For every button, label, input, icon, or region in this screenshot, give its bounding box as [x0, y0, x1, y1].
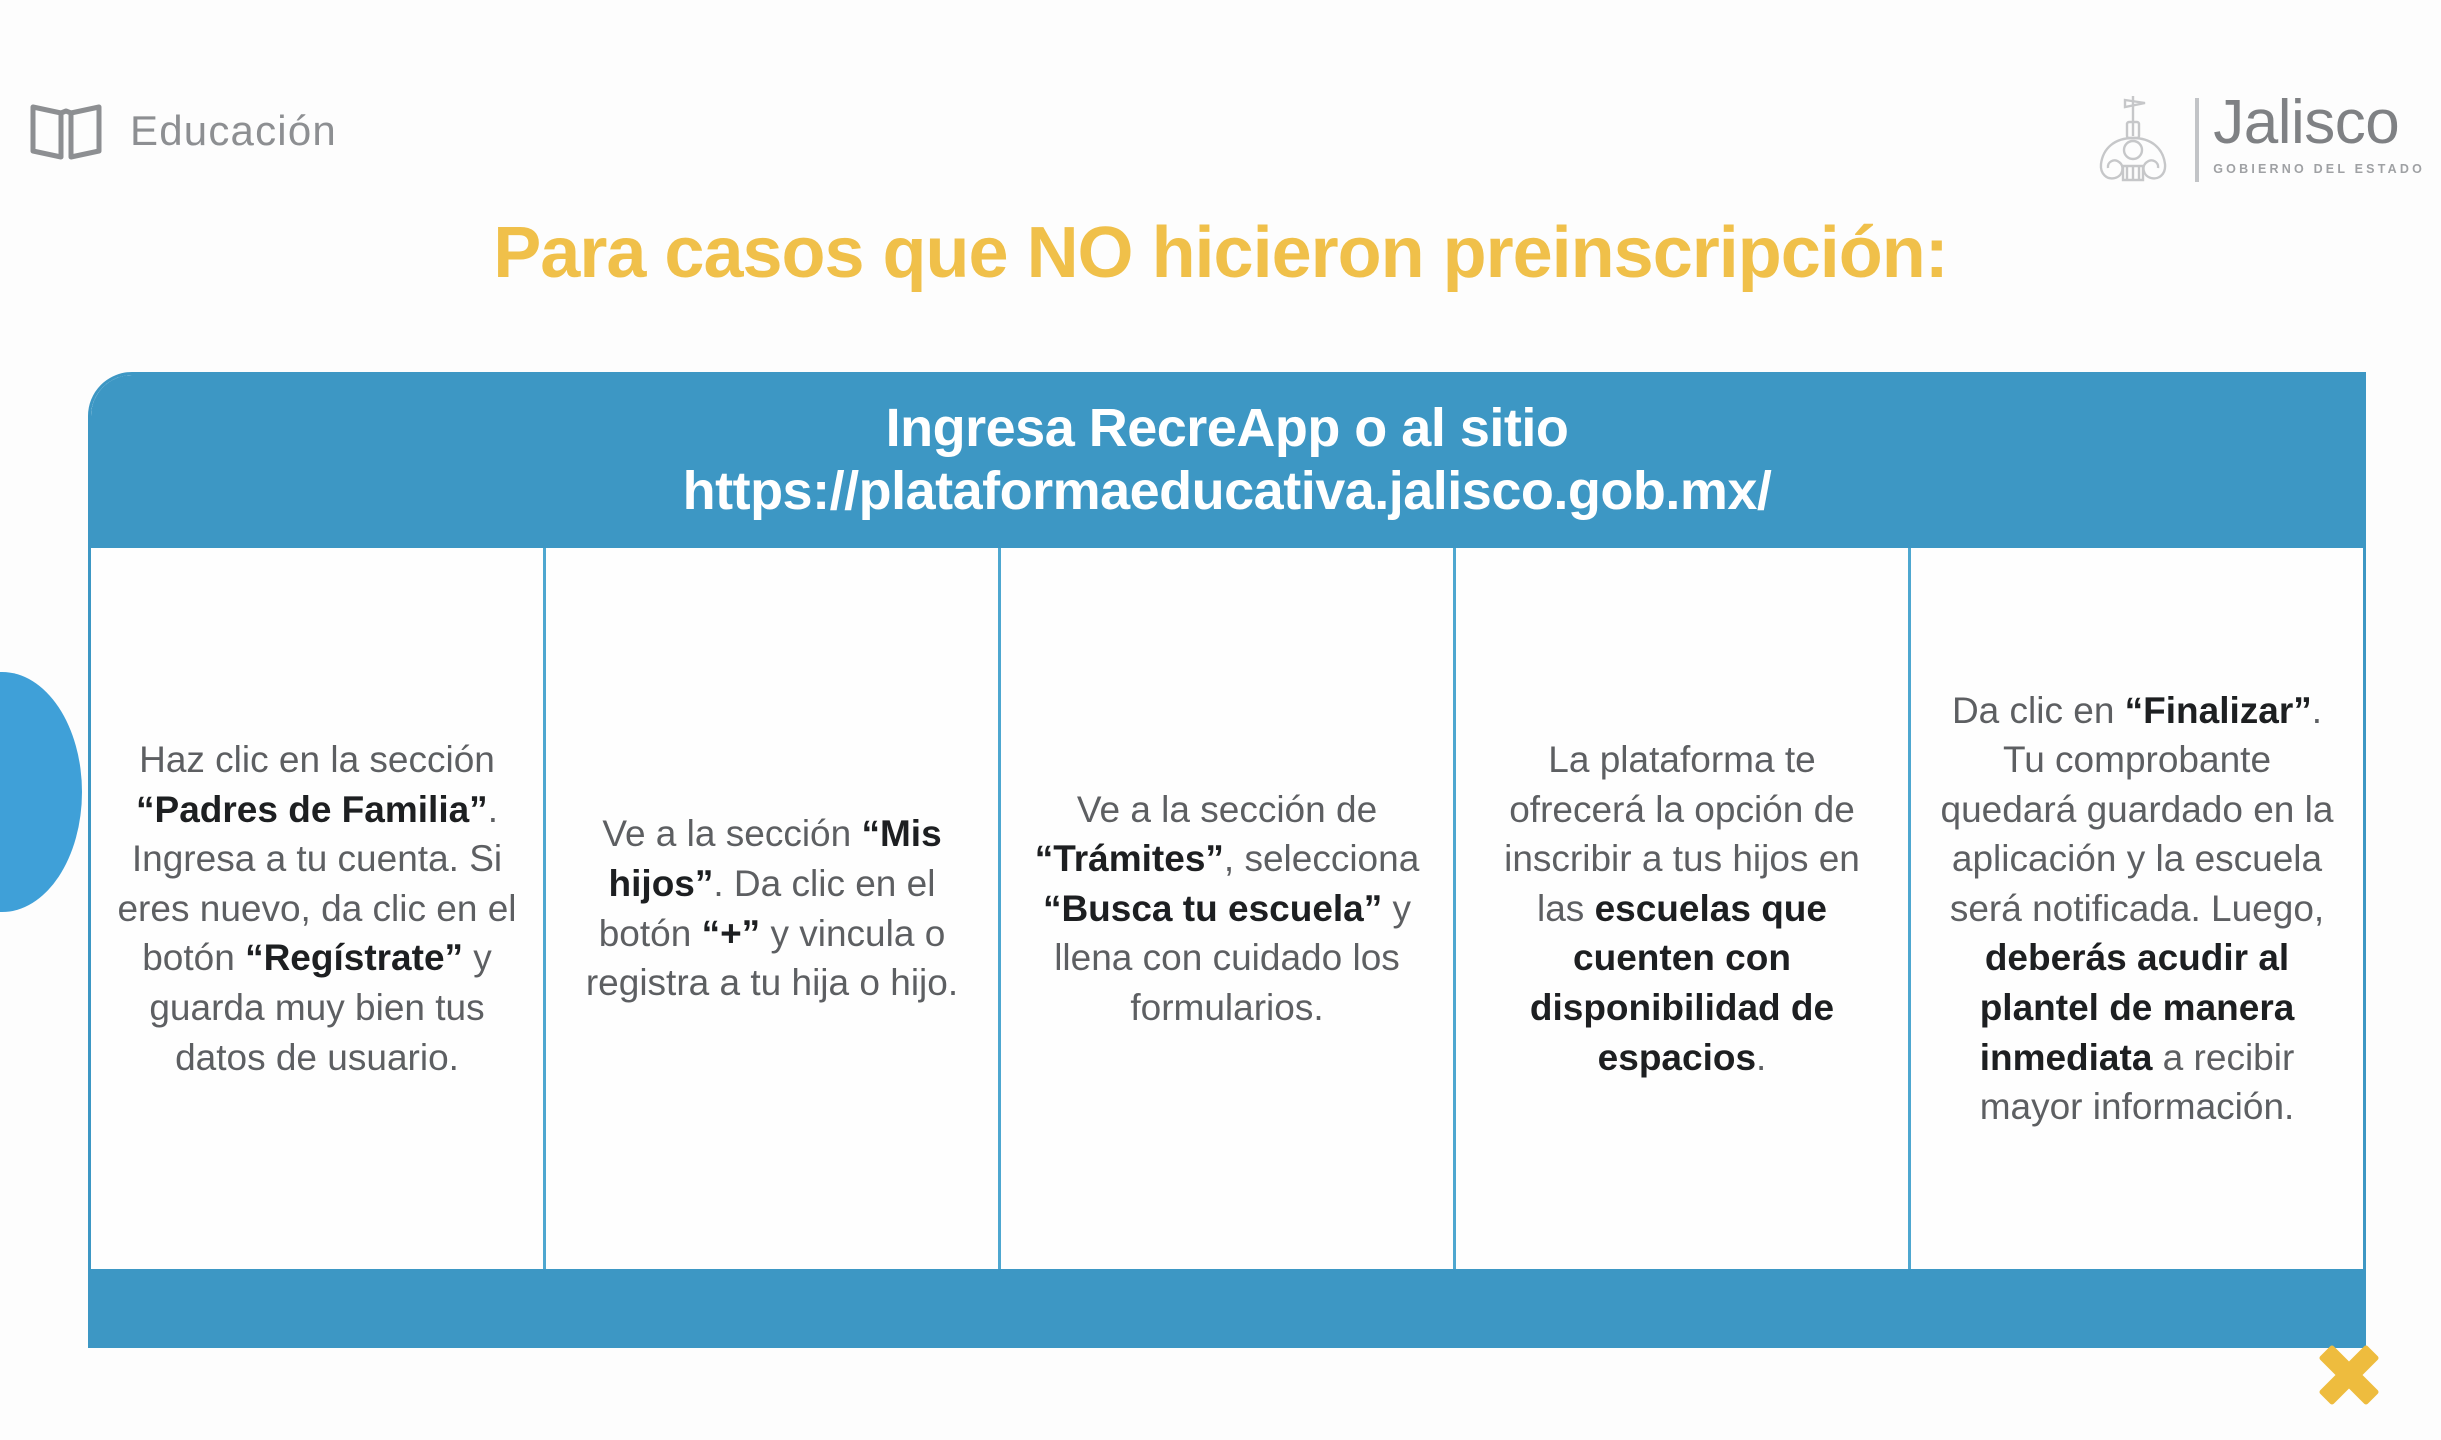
brand-divider	[2195, 98, 2199, 182]
steps-card: Ingresa RecreApp o al sitio https://plat…	[88, 372, 2366, 1348]
open-book-icon	[28, 100, 104, 162]
card-header: Ingresa RecreApp o al sitio https://plat…	[91, 375, 2363, 548]
step-column-2: Ve a la sección “Mis hijos”. Da clic en …	[546, 548, 1001, 1269]
steps-columns: Haz clic en la sección “Padres de Famili…	[91, 548, 2363, 1269]
education-brand-label: Educación	[130, 107, 337, 155]
step-text-3: Ve a la sección de “Trámites”, seleccion…	[1023, 785, 1431, 1033]
step-column-1: Haz clic en la sección “Padres de Famili…	[91, 548, 546, 1269]
jalisco-wordmark: Jalisco	[2213, 92, 2399, 154]
page-title: Para casos que NO hicieron preinscripció…	[0, 212, 2441, 294]
step-text-2: Ve a la sección “Mis hijos”. Da clic en …	[568, 809, 976, 1007]
card-header-line-1: Ingresa RecreApp o al sitio	[131, 397, 2323, 460]
step-text-4: La plataforma te ofrecerá la opción de i…	[1478, 735, 1886, 1082]
step-column-4: La plataforma te ofrecerá la opción de i…	[1456, 548, 1911, 1269]
step-text-1: Haz clic en la sección “Padres de Famili…	[113, 735, 521, 1082]
card-header-url[interactable]: https://plataformaeducativa.jalisco.gob.…	[131, 460, 2323, 523]
education-brand: Educación	[28, 100, 337, 162]
step-text-5: Da clic en “Finalizar”. Tu comprobante q…	[1933, 686, 2341, 1132]
jalisco-government-brand: Jalisco GOBIERNO DEL ESTADO	[2085, 92, 2425, 184]
decorative-circle	[0, 672, 82, 912]
jalisco-subtitle: GOBIERNO DEL ESTADO	[2213, 162, 2425, 176]
jalisco-crest-icon	[2085, 92, 2181, 184]
card-footer-bar	[91, 1269, 2363, 1345]
step-column-3: Ve a la sección de “Trámites”, seleccion…	[1001, 548, 1456, 1269]
step-column-5: Da clic en “Finalizar”. Tu comprobante q…	[1911, 548, 2363, 1269]
slide-top-bar: Educación Jalisco GOBIERNO DEL ESTADO	[0, 0, 2441, 210]
